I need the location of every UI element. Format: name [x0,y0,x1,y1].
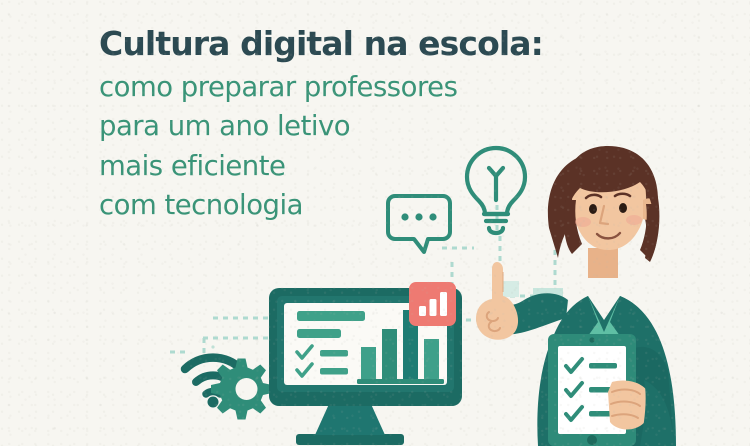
tablet-camera [589,337,594,342]
badge-bar [419,306,426,316]
badge-bar [440,292,447,316]
eye-right [619,203,627,213]
monitor-stand-base [296,434,404,445]
poster-text-block: Cultura digital na escola: como preparar… [99,27,543,226]
page-title: Cultura digital na escola: [99,27,543,61]
dot-accent [211,345,214,348]
subtitle-line-4: com tecnologia [99,186,543,226]
cheek-right [626,215,642,225]
gear-icon [211,359,272,420]
subtitle-line-1: como preparar professores [99,68,543,108]
screen-text-bar [297,311,365,321]
chart-bar [382,329,397,379]
eye-left [589,204,597,214]
screen-text-bar [297,329,341,338]
subtitle-line-3: mais eficiente [99,147,543,187]
neck [588,248,618,278]
chart-bar [424,339,439,379]
monitor-stand-neck [315,404,385,435]
badge-bar [430,299,437,316]
chart-axis [357,379,444,384]
poster-canvas: Cultura digital na escola: como preparar… [0,0,750,446]
subtitle-line-2: para um ano letivo [99,107,543,147]
cheek-left [575,217,591,227]
tablet-home-button [587,435,597,445]
chart-bar [361,347,376,379]
pointing-hand [476,262,518,340]
bar-chart-badge [409,282,456,326]
